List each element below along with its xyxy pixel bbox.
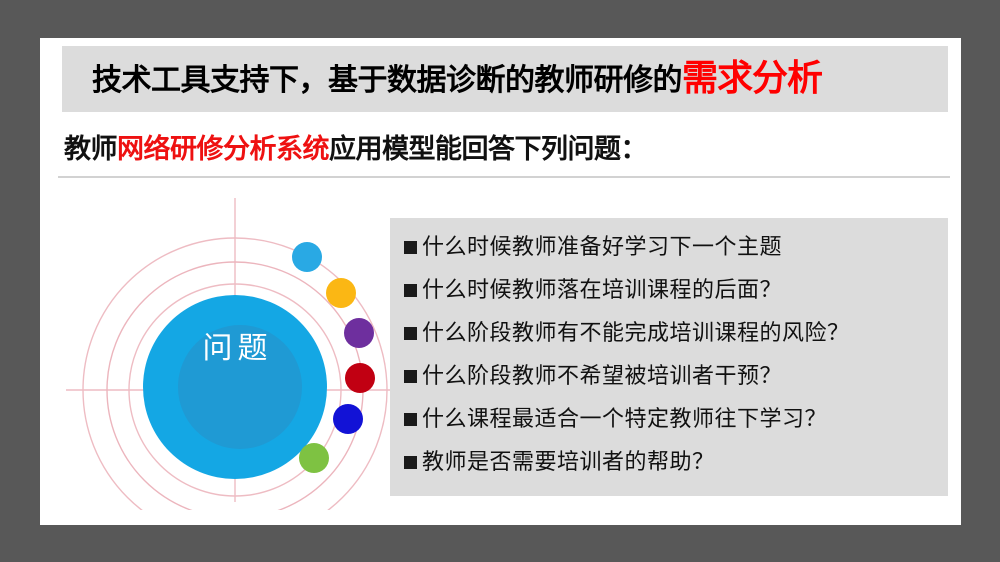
list-item: 什么阶段教师不希望被培训者干预？ [390,355,948,398]
subtitle-lead: 教师 [64,134,117,165]
list-item: 什么时候教师准备好学习下一个主题 [390,226,948,269]
page-title-main: 技术工具支持下，基于数据诊断的教师研修的 [92,63,682,98]
core-inner-circle [178,325,302,449]
page-title-accent: 需求分析 [682,58,822,99]
square-bullet-icon [404,413,417,426]
list-item: 教师是否需要培训者的帮助？ [390,441,948,484]
slide-canvas: 技术工具支持下，基于数据诊断的教师研修的需求分析 教师网络研修分析系统应用模型能… [40,38,961,525]
subtitle-tail: 应用模型能回答下列问题： [329,134,647,165]
list-item-label: 什么时候教师准备好学习下一个主题 [422,237,782,259]
list-item: 什么阶段教师有不能完成培训课程的风险？ [390,312,948,355]
page-title: 技术工具支持下，基于数据诊断的教师研修的需求分析 [92,61,822,97]
list-item-label: 什么课程最适合一个特定教师往下学习？ [422,409,827,431]
slide-root: 技术工具支持下，基于数据诊断的教师研修的需求分析 教师网络研修分析系统应用模型能… [0,0,1000,562]
dot-green-icon [299,443,329,473]
square-bullet-icon [404,370,417,383]
dot-amber-icon [326,278,356,308]
list-item: 什么时候教师落在培训课程的后面？ [390,269,948,312]
square-bullet-icon [404,456,417,469]
question-list-panel: 什么时候教师准备好学习下一个主题 什么时候教师落在培训课程的后面？ 什么阶段教师… [390,218,948,496]
subtitle-accent: 网络研修分析系统 [117,134,329,165]
square-bullet-icon [404,327,417,340]
subtitle: 教师网络研修分析系统应用模型能回答下列问题： [64,126,950,174]
list-item-label: 什么时候教师落在培训课程的后面？ [422,280,782,302]
title-band: 技术工具支持下，基于数据诊断的教师研修的需求分析 [62,46,948,112]
square-bullet-icon [404,284,417,297]
question-diagram-graphic [58,190,408,510]
dot-dark-red-icon [345,363,375,393]
list-item-label: 什么阶段教师有不能完成培训课程的风险？ [422,323,850,345]
question-diagram: 问题 [58,190,408,510]
list-item-label: 教师是否需要培训者的帮助？ [422,452,715,474]
list-item: 什么课程最适合一个特定教师往下学习？ [390,398,948,441]
dot-light-blue-icon [292,242,322,272]
list-item-label: 什么阶段教师不希望被培训者干预？ [422,366,782,388]
subtitle-divider [58,176,950,178]
square-bullet-icon [404,241,417,254]
dot-purple-icon [344,318,374,348]
dot-blue-icon [333,404,363,434]
